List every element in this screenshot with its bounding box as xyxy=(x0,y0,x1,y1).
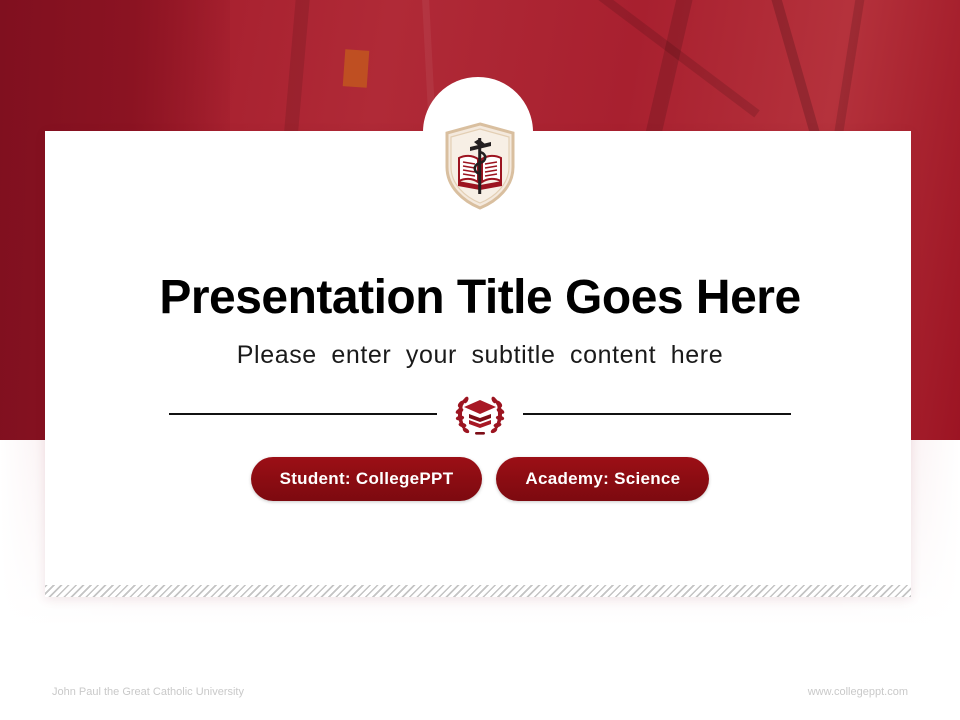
academy-pill[interactable]: Academy: Science xyxy=(496,457,709,501)
page-title: Presentation Title Goes Here xyxy=(0,272,960,325)
presentation-slide: Presentation Title Goes Here Please ente… xyxy=(0,0,960,720)
footer-website-url: www.collegeppt.com xyxy=(808,686,908,698)
photo-orange-accent xyxy=(343,49,370,88)
footer-university-name: John Paul the Great Catholic University xyxy=(52,686,244,698)
graduation-cap-laurel-wreath-icon xyxy=(451,392,509,436)
slide-footer: John Paul the Great Catholic University … xyxy=(0,686,960,698)
page-subtitle: Please enter your subtitle content here xyxy=(0,341,960,370)
student-pill[interactable]: Student: CollegePPT xyxy=(251,457,483,501)
divider-line-left xyxy=(169,413,437,415)
hatched-stripe-band xyxy=(45,585,911,597)
divider-row xyxy=(0,392,960,436)
info-pill-row: Student: CollegePPT Academy: Science xyxy=(0,457,960,501)
university-shield-crest-icon xyxy=(443,122,517,210)
title-block: Presentation Title Goes Here Please ente… xyxy=(0,272,960,370)
divider-line-right xyxy=(523,413,791,415)
